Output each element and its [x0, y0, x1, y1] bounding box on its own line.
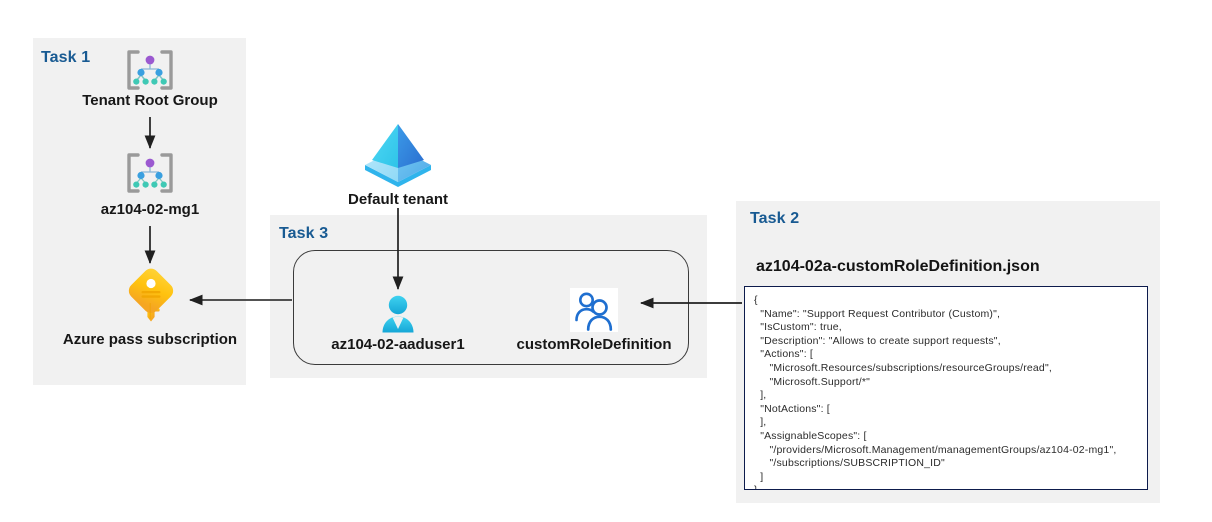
azure-pass-subscription-label: Azure pass subscription [60, 331, 240, 350]
task2-label: Task 2 [750, 210, 799, 228]
az104-02-aaduser1-label: az104-02-aaduser1 [298, 336, 498, 355]
azure-ad-tenant-icon [360, 120, 436, 192]
tenant-root-group-label: Tenant Root Group [44, 92, 256, 111]
json-file-name: az104-02a-customRoleDefinition.json [756, 258, 1040, 276]
default-tenant-label: Default tenant [298, 191, 498, 210]
az104-02-mg1-label: az104-02-mg1 [44, 201, 256, 220]
diagram-canvas: Task 1 Task 3 Task 2 Tenant Root Group [0, 0, 1212, 522]
management-group-icon [124, 151, 176, 195]
user-icon [374, 292, 422, 340]
json-definition-text: { "Name": "Support Request Contributor (… [754, 294, 1138, 490]
custom-role-icon [570, 288, 618, 332]
json-definition-box: { "Name": "Support Request Contributor (… [744, 286, 1148, 490]
customroledefinition-label: customRoleDefinition [494, 336, 694, 355]
management-group-icon [124, 48, 176, 92]
task1-label: Task 1 [41, 49, 90, 67]
task3-label: Task 3 [279, 225, 328, 243]
key-icon [126, 266, 176, 328]
